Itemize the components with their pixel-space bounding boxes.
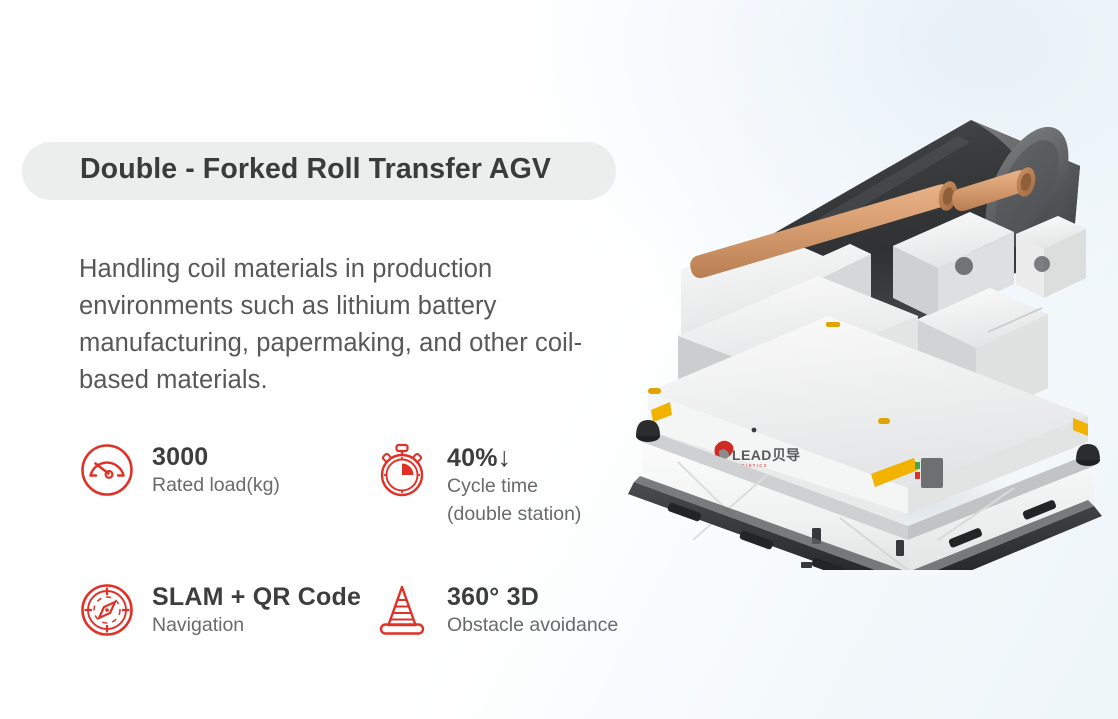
stopwatch-icon (374, 442, 430, 498)
product-image-agv: LEAD 贝导 LOGISTICS (618, 70, 1118, 570)
spec-text-rated-load: 3000 Rated load(kg) (135, 440, 280, 499)
traffic-cone-icon (374, 582, 430, 638)
spec-value: 40%↓ (447, 443, 581, 472)
spec-text-cycle-time: 40%↓ Cycle time (double station) (430, 440, 581, 527)
spec-item-obstacle-avoidance: 360° 3D Obstacle avoidance (374, 580, 618, 639)
spec-label: Obstacle avoidance (447, 613, 618, 639)
compass-icon (79, 582, 135, 638)
spec-list: 3000 Rated load(kg) (79, 440, 669, 692)
description-text: Handling coil materials in production en… (79, 251, 649, 399)
spec-label: Navigation (152, 613, 361, 639)
spec-label: Cycle time (447, 474, 581, 500)
spec-label-line2: (double station) (447, 502, 581, 528)
spec-row-2: SLAM + QR Code Navigation 360 (79, 580, 669, 639)
spec-item-cycle-time: 40%↓ Cycle time (double station) (374, 440, 581, 527)
spec-item-navigation: SLAM + QR Code Navigation (79, 580, 374, 639)
svg-text:LEAD: LEAD (732, 447, 772, 463)
spec-text-obstacle-avoidance: 360° 3D Obstacle avoidance (430, 580, 618, 639)
svg-text:贝导: 贝导 (772, 448, 800, 464)
spec-item-rated-load: 3000 Rated load(kg) (79, 440, 374, 527)
lidar-sensor-left (636, 420, 660, 442)
spec-value-number: 40% (447, 444, 498, 472)
slide-background: LEAD 贝导 LOGISTICS (0, 0, 1118, 719)
spec-value: 360° 3D (447, 583, 618, 611)
gauge-icon (79, 442, 135, 498)
lidar-sensor-right (1076, 444, 1100, 466)
down-arrow-icon: ↓ (498, 442, 512, 472)
spec-text-navigation: SLAM + QR Code Navigation (135, 580, 361, 639)
spec-value: 3000 (152, 443, 280, 471)
spec-label: Rated load(kg) (152, 473, 280, 499)
spec-row-1: 3000 Rated load(kg) (79, 440, 669, 527)
spec-value: SLAM + QR Code (152, 583, 361, 611)
page-title: Double - Forked Roll Transfer AGV (80, 153, 551, 186)
